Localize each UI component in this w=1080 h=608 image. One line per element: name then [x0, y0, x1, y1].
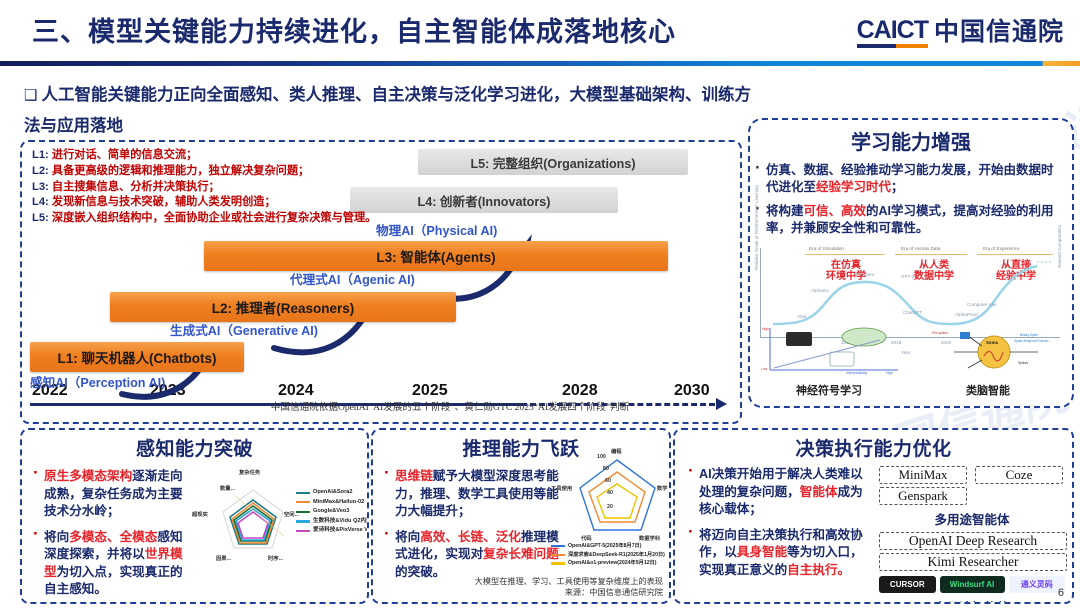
timeline-bar-l1: L1: 聊天机器人(Chatbots) — [30, 342, 244, 372]
agent-tag-genspark[interactable]: Genspark — [879, 487, 967, 505]
timeline-bar-l2: L2: 推理者(Reasoners) — [110, 292, 456, 322]
reasoning-panel: 推理能力飞跃 思维链赋予大模型深度思考能力，推理、数学工具使用等能力大幅提升； … — [371, 428, 671, 604]
single-purpose-agent-caption: 专用途智能体 — [879, 597, 1065, 604]
reasoning-b2-a: 将向 — [395, 530, 420, 544]
agent-tag-kimi-researcher[interactable]: Kimi Researcher — [879, 553, 1067, 571]
reasoning-bullet-2: 将向高效、长链、泛化推理模式进化，实现对复杂长难问题的突破。 — [395, 529, 567, 582]
svg-text:Pre-spikes: Pre-spikes — [932, 331, 948, 335]
perception-legend: OpenAI&Sora2 MiniMax&Hailuo-02 Google&Ve… — [296, 488, 369, 536]
reasoning-b2-c: 的突破。 — [395, 565, 445, 579]
reasoning-source-line-2: 来源：中国信息通信研究院 — [443, 587, 663, 598]
radar-label-superreal: 超现实 — [192, 510, 208, 518]
timeline-caption-generative-ai: 生成式AI（Generative AI) — [170, 320, 318, 339]
radar-tick-100: 100 — [597, 454, 606, 460]
learning-title: 学习能力增强 — [750, 126, 1072, 155]
reasoning-legend: OpenAI&GPT-5(2025年8月7日) 深度求索&DeepSeek-R1… — [551, 542, 665, 568]
point-chatgpt: ChatGPT — [903, 310, 922, 315]
list-item: L5: 深度嵌入组织结构中，全面协助企业或社会进行复杂决策与管理。 — [32, 211, 376, 227]
agent-chip-cursor[interactable]: CURSOR — [879, 576, 936, 593]
logo-caict-text: CAICT — [857, 16, 928, 45]
agent-chip-tongyi-lingma[interactable]: 通义灵码 — [1009, 576, 1066, 593]
legend-swatch — [296, 501, 310, 503]
radar-label-tool-use: 工具使用 — [551, 484, 572, 492]
point-computer-use: Computer Use — [967, 302, 997, 307]
reasoning-radar-chart: 100 80 60 40 20 编程 数学 数据学科 代码 工具使用 — [559, 446, 669, 546]
timeline-bar-l5: L5: 完整组织(Organizations) — [418, 149, 688, 175]
brainlike-diagram: Soma Pre-spikes Spikes Binary Spike Spat… — [908, 322, 1058, 376]
svg-text:High: High — [886, 371, 893, 375]
legend-item: 生数科技&Vidu Q2内测版 — [296, 517, 369, 527]
lead-line-1: 人工智能关键能力正向全面感知、类人推理、自主决策与泛化学习进化，大模型基础架构、… — [24, 86, 751, 135]
legend-label: 深度求索&DeepSeek-R1(2025年1月20日) — [568, 551, 665, 560]
level-key: L4: — [32, 196, 49, 208]
legend-label: 生数科技&Vidu Q2内测版 — [313, 517, 369, 527]
level-text: 自主搜集信息、分析并决策执行； — [52, 181, 220, 193]
learning-b1-text: 仿真、数据、经验推动学习能力发展，开始由数据时代进化至 — [766, 163, 1054, 194]
legend-label: OpenAI&o1-preview(2024年9月12日) — [568, 559, 657, 568]
decision-bullet-1: AI决策开始用于解决人类难以处理的复杂问题，智能体成为核心载体； — [699, 466, 871, 519]
legend-swatch — [551, 554, 565, 556]
agent-chip-windsurf[interactable]: Windsurf AI — [940, 576, 1005, 593]
level-definition-list: L1: 进行对话、简单的信息交流； L2: 具备更高级的逻辑和推理能力，独立解决… — [32, 148, 376, 227]
learning-b1-highlight: 经验学习时代 — [816, 180, 891, 194]
neurosymbolic-diagram: High Low Interpretability High — [760, 324, 902, 376]
legend-label: MiniMax&Hailuo-02 — [313, 498, 364, 508]
perception-bullet-1: 原生多模态架构逐渐走向成熟，复杂任务成为主要技术分水岭； — [44, 468, 194, 521]
point-alphago: AlphaGo — [811, 288, 829, 293]
svg-text:Spikes: Spikes — [1018, 361, 1028, 365]
point-gpt3: GPT-3 — [901, 274, 914, 279]
bullet-square: ❑ — [24, 87, 37, 104]
svg-text:Low: Low — [761, 367, 768, 371]
perception-b2-c: 为切入点，实现真正的自主感知。 — [44, 565, 183, 597]
learning-bullet-1: 仿真、数据、经验推动学习能力发展，开始由数据时代进化至经验学习时代； — [766, 162, 1062, 196]
radar-label-causal: 因果... — [216, 554, 231, 562]
neurosymbolic-caption: 神经符号学习 — [796, 382, 862, 398]
legend-item: OpenAI&Sora2 — [296, 488, 369, 498]
decision-b2-highlight-1: 具身智能 — [737, 545, 787, 559]
svg-text:High: High — [762, 327, 769, 331]
header-divider — [0, 61, 1080, 66]
radar-label-quantity: 数量... — [220, 484, 235, 492]
agent-tag-openai-deep-research[interactable]: OpenAI Deep Research — [879, 532, 1067, 550]
radar-label-math: 数学 — [657, 484, 668, 492]
svg-text:Soma: Soma — [986, 340, 999, 345]
radar-label-complex-task: 复杂任务 — [239, 468, 260, 476]
timeline-caption-agenic-ai: 代理式AI（Agenic AI) — [290, 269, 415, 288]
reasoning-source-line-1: 大模型在推理、学习、工具使用等复杂维度上的表现 — [443, 576, 663, 587]
legend-swatch — [296, 530, 310, 532]
reasoning-source: 大模型在推理、学习、工具使用等复杂维度上的表现 来源：中国信息通信研究院 — [443, 576, 663, 598]
caict-logo: CAICT 中国信通院 — [857, 12, 1064, 48]
y-axis-label: Relative Scale of Reinforcement Learning — [754, 185, 759, 270]
legend-swatch — [296, 520, 310, 522]
agent-tag-coze[interactable]: Coze — [975, 466, 1063, 484]
legend-item: OpenAI&o1-preview(2024年9月12日) — [551, 559, 665, 568]
list-item: L1: 进行对话、简单的信息交流； — [32, 148, 376, 164]
svg-text:Binary Spike: Binary Spike — [1020, 333, 1038, 337]
learning-bullet-2: 将构建可信、高效的AI学习模式，提高对经验的利用率，并兼顾安全性和可靠性。 — [766, 203, 1062, 237]
legend-swatch — [296, 511, 310, 513]
legend-item: MiniMax&Hailuo-02 — [296, 498, 369, 508]
reasoning-b2-highlight-2: 复杂长难问题 — [483, 547, 559, 561]
reasoning-bullet-1: 思维链赋予大模型深度思考能力，推理、数学工具使用等能力大幅提升； — [395, 468, 567, 521]
list-item: L3: 自主搜集信息、分析并决策执行； — [32, 180, 376, 196]
perception-b2-a: 将向 — [44, 530, 69, 544]
legend-label: Google&Veo3 — [313, 507, 349, 517]
perception-radar-chart: 复杂任务 空间... 时序... 因果... 超现实 数量... — [198, 462, 308, 582]
radar-tick-80: 80 — [603, 466, 609, 472]
legend-swatch — [551, 545, 565, 547]
page-title: 三、模型关键能力持续进化，自主智能体成落地核心 — [32, 10, 676, 49]
timeline-panel: L1: 进行对话、简单的信息交流； L2: 具备更高级的逻辑和推理能力，独立解决… — [20, 140, 742, 424]
decision-b2-highlight-2: 自主执行。 — [787, 563, 850, 577]
legend-swatch — [551, 562, 565, 564]
decision-b1-highlight: 智能体 — [800, 485, 838, 499]
radar-label-code: 代码 — [581, 534, 592, 542]
legend-label: OpenAI&GPT-5(2025年8月7日) — [568, 542, 642, 551]
decision-panel: 决策执行能力优化 AI决策开始用于解决人类难以处理的复杂问题，智能体成为核心载体… — [673, 428, 1074, 604]
radar-label-programming: 编程 — [611, 447, 622, 455]
slide: 三、模型关键能力持续进化，自主智能体成落地核心 CAICT 中国信通院 ❑人工智… — [0, 0, 1080, 608]
point-alphazero: AlphaZero — [853, 272, 874, 277]
radar-tick-60: 60 — [605, 478, 611, 484]
svg-text:Interpretability: Interpretability — [846, 371, 868, 375]
learning-b1-tail: ； — [891, 180, 904, 194]
level-text: 发现新信息与技术突破，辅助人类发明创造； — [52, 196, 276, 208]
svg-text:Spatio-temporal Domain: Spatio-temporal Domain — [1014, 339, 1049, 343]
legend-swatch — [296, 492, 310, 494]
timeline-bar-l3: L3: 智能体(Agents) — [204, 241, 668, 271]
decision-bullet-2: 将迈向自主决策执行和高效协作，以具身智能等为切入口，实现真正意义的自主执行。 — [699, 527, 871, 580]
radar-label-temporal: 时序... — [268, 554, 283, 562]
timeline-caption-perception-ai: 感知AI（Perception AI) — [30, 372, 165, 391]
logo-chinese-text: 中国信通院 — [934, 12, 1064, 48]
legend-item: Google&Veo3 — [296, 507, 369, 517]
timeline-bar-l4: L4: 创新者(Innovators) — [350, 187, 618, 213]
list-item: L4: 发现新信息与技术突破，辅助人类发明创造； — [32, 195, 376, 211]
learning-b2-highlight: 可信、高效 — [804, 204, 867, 218]
learning-panel: 学习能力增强 仿真、数据、经验推动学习能力发展，开始由数据时代进化至经验学习时代… — [748, 118, 1074, 408]
perception-bullet-2: 将向多模态、全模态感知深度探索，并将以世界模型为切入点，实现真正的自主感知。 — [44, 529, 194, 599]
page-number: 6 — [1058, 587, 1064, 599]
level-key: L3: — [32, 181, 49, 193]
level-key: L5: — [32, 212, 49, 224]
legend-label: OpenAI&Sora2 — [313, 488, 352, 498]
radar-tick-40: 40 — [607, 490, 613, 496]
reasoning-b2-highlight-1: 高效、长链、泛化 — [420, 530, 521, 544]
level-key: L2: — [32, 165, 49, 177]
perception-b1-highlight: 原生多模态架构 — [44, 469, 132, 483]
perception-b2-highlight-1: 多模态、全模态 — [69, 530, 157, 544]
perception-title: 感知能力突破 — [22, 434, 367, 461]
legend-item: OpenAI&GPT-5(2025年8月7日) — [551, 542, 665, 551]
legend-item: 爱诗科技&PixVerse V5 — [296, 526, 369, 536]
list-item: L2: 具备更高级的逻辑和推理能力，独立解决复杂问题； — [32, 164, 376, 180]
level-text: 深度嵌入组织结构中，全面协助企业或社会进行复杂决策与管理。 — [52, 212, 376, 224]
legend-item: 深度求索&DeepSeek-R1(2025年1月20日) — [551, 551, 665, 560]
radar-tick-20: 20 — [607, 504, 613, 510]
reasoning-b1-highlight: 思维链 — [395, 469, 433, 483]
timeline-caption-physical-ai: 物理AI（Physical AI) — [376, 220, 497, 239]
point-atari: Atari — [797, 314, 806, 319]
perception-panel: 感知能力突破 原生多模态架构逐渐走向成熟，复杂任务成为主要技术分水岭； 将向多模… — [20, 428, 369, 604]
legend-label: 爱诗科技&PixVerse V5 — [313, 526, 369, 536]
brainlike-caption: 类脑智能 — [966, 382, 1010, 398]
agent-tag-minimax[interactable]: MiniMax — [879, 466, 967, 484]
point-alphaproof: AlphaProof — [955, 312, 978, 317]
multi-purpose-agent-caption: 多用途智能体 — [879, 509, 1065, 528]
level-text: 进行对话、简单的信息交流； — [52, 149, 197, 161]
y-axis-right-label: Reward Computation — [1057, 225, 1062, 268]
learning-b2-text: 将构建 — [766, 204, 804, 218]
learning-figure: Era of Simulation Era of Human Data Era … — [760, 248, 1060, 398]
radar-label-data-science: 数据学科 — [639, 534, 660, 542]
level-text: 具备更高级的逻辑和推理能力，独立解决复杂问题； — [52, 165, 309, 177]
decision-title: 决策执行能力优化 — [675, 434, 1072, 461]
level-key: L1: — [32, 149, 49, 161]
